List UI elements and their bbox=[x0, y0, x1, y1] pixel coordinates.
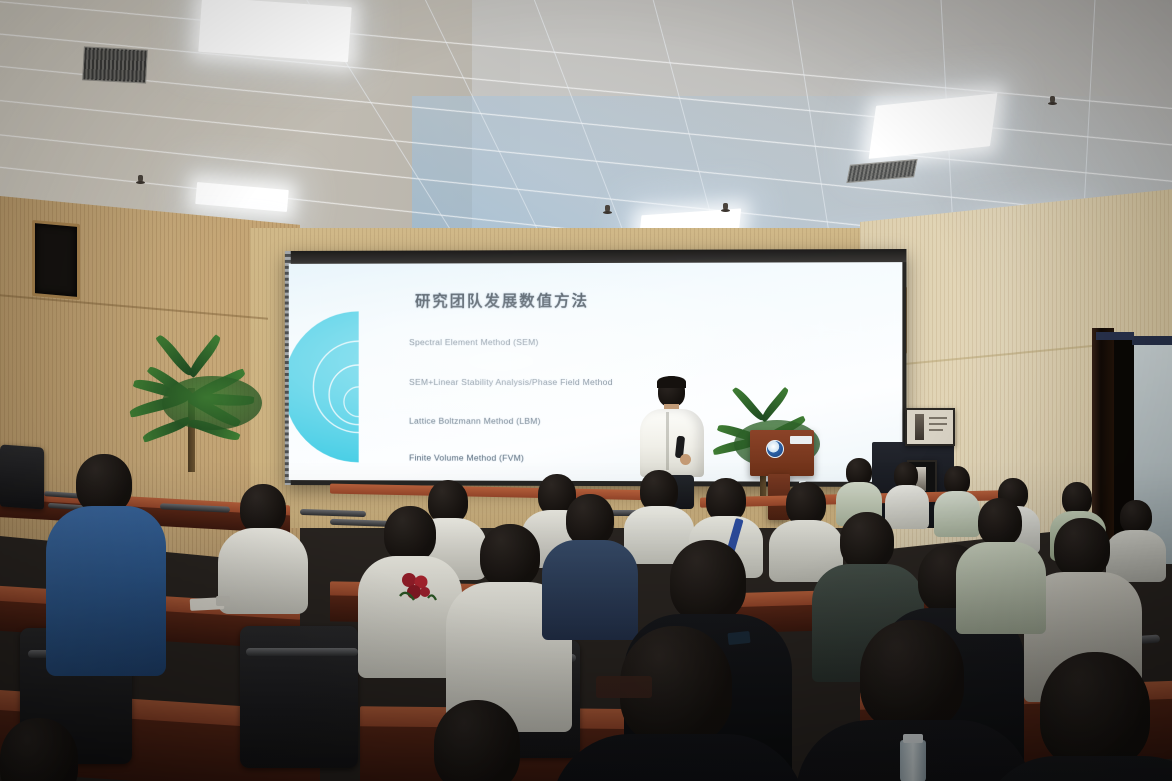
wall-speaker bbox=[32, 220, 80, 300]
ceiling-light-panel bbox=[198, 0, 351, 62]
lecture-hall-photo: 研究团队发展数值方法 Spectral Element Method (SEM)… bbox=[0, 0, 1172, 781]
sprinkler-head-icon bbox=[723, 203, 728, 211]
door-header-trim bbox=[1132, 336, 1172, 345]
chair[interactable] bbox=[0, 444, 44, 509]
lectern-paper bbox=[790, 436, 812, 444]
ceiling-air-vent bbox=[82, 46, 148, 83]
eraser-on-desk bbox=[216, 596, 230, 606]
slide-bullet-1: Spectral Element Method (SEM) bbox=[409, 337, 539, 347]
framed-picture bbox=[905, 408, 955, 446]
door-lintel bbox=[1096, 332, 1134, 340]
sprinkler-head-icon bbox=[138, 175, 143, 183]
presenter-hair bbox=[657, 376, 686, 388]
smartphone-on-desk[interactable] bbox=[727, 631, 750, 645]
slide-title: 研究团队发展数值方法 bbox=[415, 289, 589, 311]
slide-bullet-3: Lattice Boltzmann Method (LBM) bbox=[409, 416, 541, 426]
presenter-torso bbox=[640, 409, 704, 477]
sprinkler-head-icon bbox=[1050, 96, 1055, 104]
presenter-shirt-placket bbox=[666, 412, 669, 470]
potted-plant-left bbox=[132, 330, 272, 470]
water-bottle-cap bbox=[903, 734, 923, 743]
bag-under-desk bbox=[596, 676, 652, 698]
water-bottle-foreground[interactable] bbox=[900, 740, 926, 781]
presenter-hand bbox=[680, 454, 691, 465]
chair-armrest bbox=[246, 648, 358, 656]
cyan-semicircle-rings-icon bbox=[289, 307, 403, 466]
sprinkler-head-icon bbox=[605, 205, 610, 213]
rose-print-icon bbox=[396, 570, 438, 610]
lectern-emblem bbox=[766, 440, 784, 458]
slide-bullet-2: SEM+Linear Stability Analysis/Phase Fiel… bbox=[409, 377, 613, 387]
slide-bullet-4: Finite Volume Method (FVM) bbox=[409, 453, 524, 463]
